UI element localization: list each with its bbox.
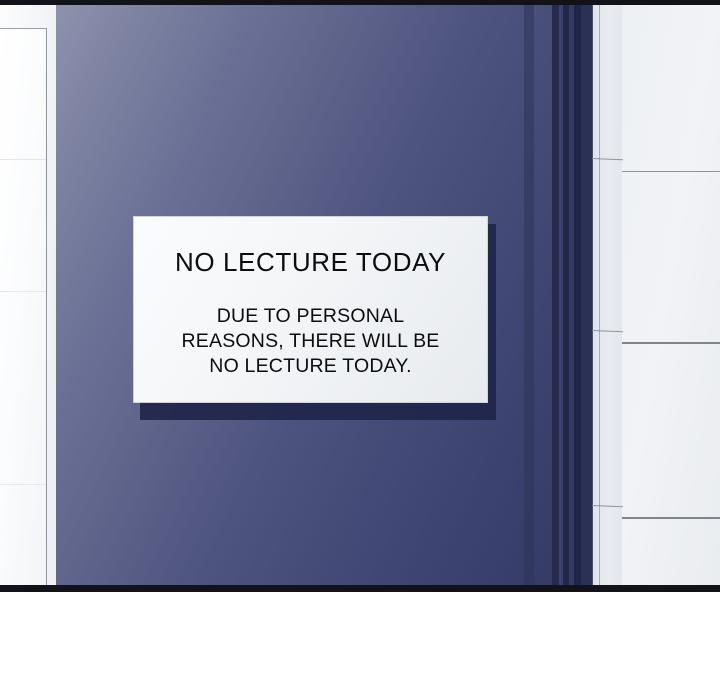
- page-whitespace-below-panel: [0, 592, 720, 700]
- left-wall-panel: [0, 28, 47, 586]
- notice-title: NO LECTURE TODAY: [175, 247, 446, 278]
- door-mullion-band-7: [581, 5, 592, 585]
- left-panel-joint-3: [0, 484, 46, 485]
- panel-border-bottom: [0, 585, 720, 592]
- door-mullion-band-6: [574, 5, 581, 585]
- door-frame-edge-line: [592, 5, 593, 585]
- illustration-scene: NO LECTURE TODAY DUE TO PERSONAL REASONS…: [0, 0, 720, 700]
- panel-border-top: [0, 0, 720, 5]
- door-mullion-band-1: [524, 5, 534, 585]
- wall-recess-strip: [592, 5, 622, 585]
- left-panel-joint-2: [0, 291, 46, 292]
- notice-body-text: DUE TO PERSONAL REASONS, THERE WILL BE N…: [182, 304, 440, 379]
- wall-tile-line-horizontal-1: [621, 171, 720, 172]
- door-mullion-band-2: [552, 5, 559, 585]
- left-panel-joint-1: [0, 159, 46, 160]
- wall-tile-line-horizontal-2: [621, 342, 720, 344]
- comic-panel: NO LECTURE TODAY DUE TO PERSONAL REASONS…: [0, 0, 720, 592]
- notice-sign[interactable]: NO LECTURE TODAY DUE TO PERSONAL REASONS…: [133, 216, 488, 403]
- wall-strip-inner-line: [599, 5, 600, 585]
- wall-tile-line-horizontal-3: [621, 517, 720, 519]
